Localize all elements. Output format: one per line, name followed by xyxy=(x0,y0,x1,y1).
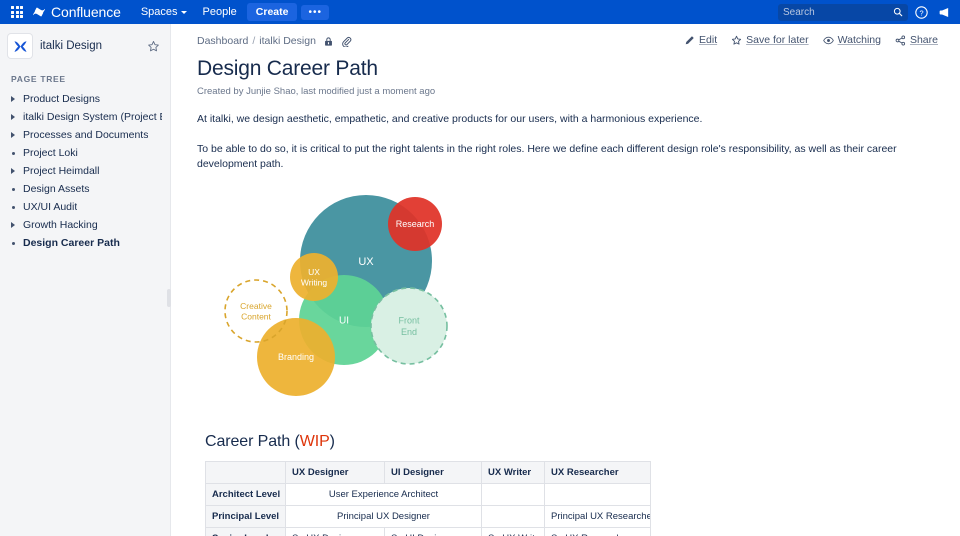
sidebar-item-label: Project Heimdall xyxy=(23,165,99,177)
space-sidebar: italki Design PAGE TREE Product Designs … xyxy=(0,24,171,536)
svg-text:?: ? xyxy=(919,8,923,17)
table-cell-merged: User Experience Architect xyxy=(286,483,482,505)
venn-diagram: UXResearchUIUXWritingBrandingCreativeCon… xyxy=(219,189,938,409)
nav-item-people-label: People xyxy=(203,6,237,18)
venn-label: End xyxy=(401,326,417,336)
save-for-later-label: Save for later xyxy=(746,34,808,46)
career-table-body: Architect LevelUser Experience Architect… xyxy=(206,483,651,536)
chevron-right-icon[interactable] xyxy=(8,168,18,174)
sidebar-item-design-career-path[interactable]: Design Career Path xyxy=(0,234,170,252)
sidebar-item-label: Design Assets xyxy=(23,183,90,195)
page-title: Design Career Path xyxy=(197,57,938,81)
save-for-later-button[interactable]: Save for later xyxy=(731,34,808,46)
page-shell: italki Design PAGE TREE Product Designs … xyxy=(0,24,960,536)
chevron-right-icon[interactable] xyxy=(8,114,18,120)
sidebar-item-ux-ui-audit[interactable]: UX/UI Audit xyxy=(0,198,170,216)
career-path-heading-main: Career Path ( xyxy=(205,433,300,450)
global-navigation-bar: Confluence Spaces People Create ••• Sear… xyxy=(0,0,960,24)
venn-label: UX xyxy=(358,256,374,268)
venn-circle-branding: Branding xyxy=(257,318,335,396)
sidebar-item-label: Processes and Documents xyxy=(23,129,148,141)
venn-circle-research: Research xyxy=(388,197,442,251)
chevron-right-icon[interactable] xyxy=(8,96,18,102)
help-circle-icon: ? xyxy=(915,6,928,19)
sidebar-item-growth-hacking[interactable]: Growth Hacking xyxy=(0,216,170,234)
table-cell: Principal UX Researcher xyxy=(545,505,651,527)
row-level-label: Senior Level xyxy=(206,527,286,536)
sidebar-item-label: italki Design System (Project Enter xyxy=(23,111,162,123)
confluence-logo-icon xyxy=(32,5,46,19)
page-content: Dashboard / italki Design Edit xyxy=(171,24,960,536)
sidebar-item-label: UX/UI Audit xyxy=(23,201,77,213)
venn-label: Writing xyxy=(301,277,328,287)
edit-button[interactable]: Edit xyxy=(684,34,717,46)
nav-item-spaces-label: Spaces xyxy=(141,6,178,18)
table-row: Principal LevelPrincipal UX DesignerPrin… xyxy=(206,505,651,527)
venn-circle-ux-writing: UXWriting xyxy=(290,253,338,301)
share-button[interactable]: Share xyxy=(895,34,938,46)
nav-more-button[interactable]: ••• xyxy=(301,5,329,20)
sidebar-item-label: Project Loki xyxy=(23,147,78,159)
venn-circle-front-end: FrontEnd xyxy=(371,288,447,364)
paperclip-icon[interactable] xyxy=(341,36,352,47)
space-avatar xyxy=(8,34,32,58)
chevron-right-icon[interactable] xyxy=(8,132,18,138)
nav-right-group: Search ? xyxy=(778,3,954,22)
table-row: Senior LevelSr. UX DesignerSr. UI Design… xyxy=(206,527,651,536)
brand-title: Confluence xyxy=(51,4,121,20)
col-header-ui-designer: UI Designer xyxy=(385,461,482,483)
chevron-down-icon xyxy=(181,11,187,14)
bullet-dot-icon xyxy=(8,242,18,245)
watching-label: Watching xyxy=(838,34,881,46)
page-actions: Edit Save for later Watching xyxy=(684,34,938,46)
help-button[interactable]: ? xyxy=(912,3,931,22)
venn-label: UX xyxy=(308,266,320,276)
bullet-dot-icon xyxy=(8,206,18,209)
share-button-label: Share xyxy=(910,34,938,46)
nav-item-spaces[interactable]: Spaces xyxy=(133,3,195,21)
table-cell xyxy=(545,483,651,505)
nav-item-people[interactable]: People xyxy=(195,3,245,21)
sidebar-collapse-handle[interactable] xyxy=(167,289,171,307)
row-level-label: Principal Level xyxy=(206,505,286,527)
table-cell xyxy=(482,483,545,505)
table-header-row: UX Designer UI Designer UX Writer UX Res… xyxy=(206,461,651,483)
create-button[interactable]: Create xyxy=(247,3,298,21)
edit-button-label: Edit xyxy=(699,34,717,46)
bullet-dot-icon xyxy=(8,188,18,191)
page-tree-heading: PAGE TREE xyxy=(0,68,170,90)
table-cell-merged: Principal UX Designer xyxy=(286,505,482,527)
design-roles-venn-svg: UXResearchUIUXWritingBrandingCreativeCon… xyxy=(219,189,479,404)
share-icon xyxy=(895,35,906,46)
page-tree: Product Designs italki Design System (Pr… xyxy=(0,90,170,252)
search-placeholder: Search xyxy=(783,7,893,18)
row-level-label: Architect Level xyxy=(206,483,286,505)
venn-label: Creative xyxy=(240,300,272,310)
megaphone-icon xyxy=(938,6,951,19)
italki-logo-icon xyxy=(12,38,29,55)
venn-label: UI xyxy=(339,315,349,326)
career-path-heading-tail: ) xyxy=(330,433,335,450)
sidebar-item-product-designs[interactable]: Product Designs xyxy=(0,90,170,108)
lock-restricted-icon[interactable] xyxy=(323,36,334,47)
announcements-button[interactable] xyxy=(935,3,954,22)
table-cell: Sr. UI Designer xyxy=(385,527,482,536)
watching-button[interactable]: Watching xyxy=(823,34,881,46)
star-outline-icon xyxy=(731,35,742,46)
star-outline-icon[interactable] xyxy=(147,40,160,53)
space-name-label: italki Design xyxy=(40,40,139,52)
sidebar-item-label: Growth Hacking xyxy=(23,219,98,231)
sidebar-item-project-heimdall[interactable]: Project Heimdall xyxy=(0,162,170,180)
bullet-dot-icon xyxy=(8,152,18,155)
search-input[interactable]: Search xyxy=(778,4,908,21)
col-header-ux-designer: UX Designer xyxy=(286,461,385,483)
pencil-icon xyxy=(684,35,695,46)
nav-left-group: Confluence Spaces People Create ••• xyxy=(6,1,329,23)
table-cell: Sr. UX Designer xyxy=(286,527,385,536)
venn-label: Front xyxy=(398,315,420,325)
sidebar-item-italki-design-system[interactable]: italki Design System (Project Enter xyxy=(0,108,170,126)
career-path-table: UX Designer UI Designer UX Writer UX Res… xyxy=(205,461,651,536)
table-cell xyxy=(482,505,545,527)
sidebar-item-project-loki[interactable]: Project Loki xyxy=(0,144,170,162)
paragraph-intro: At italki, we design aesthetic, empathet… xyxy=(197,112,938,127)
table-cell: Sr. UX Writer xyxy=(482,527,545,536)
breadcrumb-dashboard[interactable]: Dashboard xyxy=(197,35,248,47)
sidebar-item-label: Design Career Path xyxy=(23,237,120,249)
col-header-blank xyxy=(206,461,286,483)
page-byline: Created by Junjie Shao, last modified ju… xyxy=(197,86,938,97)
space-header[interactable]: italki Design xyxy=(0,24,170,68)
table-cell: Sr. UX Researcher xyxy=(545,527,651,536)
venn-label: Branding xyxy=(278,352,314,362)
career-table-head: UX Designer UI Designer UX Writer UX Res… xyxy=(206,461,651,483)
venn-label: Research xyxy=(396,219,435,229)
career-path-heading: Career Path (WIP) xyxy=(205,433,938,451)
paragraph-detail: To be able to do so, it is critical to p… xyxy=(197,142,938,172)
table-row: Architect LevelUser Experience Architect xyxy=(206,483,651,505)
search-icon xyxy=(893,7,903,17)
breadcrumb-space[interactable]: italki Design xyxy=(259,35,316,47)
sidebar-item-processes-and-documents[interactable]: Processes and Documents xyxy=(0,126,170,144)
app-switcher-button[interactable] xyxy=(6,1,28,23)
sidebar-item-design-assets[interactable]: Design Assets xyxy=(0,180,170,198)
eye-icon xyxy=(823,35,834,46)
chevron-right-icon[interactable] xyxy=(8,222,18,228)
confluence-home-link[interactable]: Confluence xyxy=(32,4,121,20)
col-header-ux-writer: UX Writer xyxy=(482,461,545,483)
career-path-wip-badge: WIP xyxy=(300,433,330,450)
sidebar-item-label: Product Designs xyxy=(23,93,100,105)
breadcrumb-separator: / xyxy=(252,35,255,47)
venn-label: Content xyxy=(241,311,271,321)
grid-apps-icon xyxy=(11,6,23,18)
col-header-ux-researcher: UX Researcher xyxy=(545,461,651,483)
